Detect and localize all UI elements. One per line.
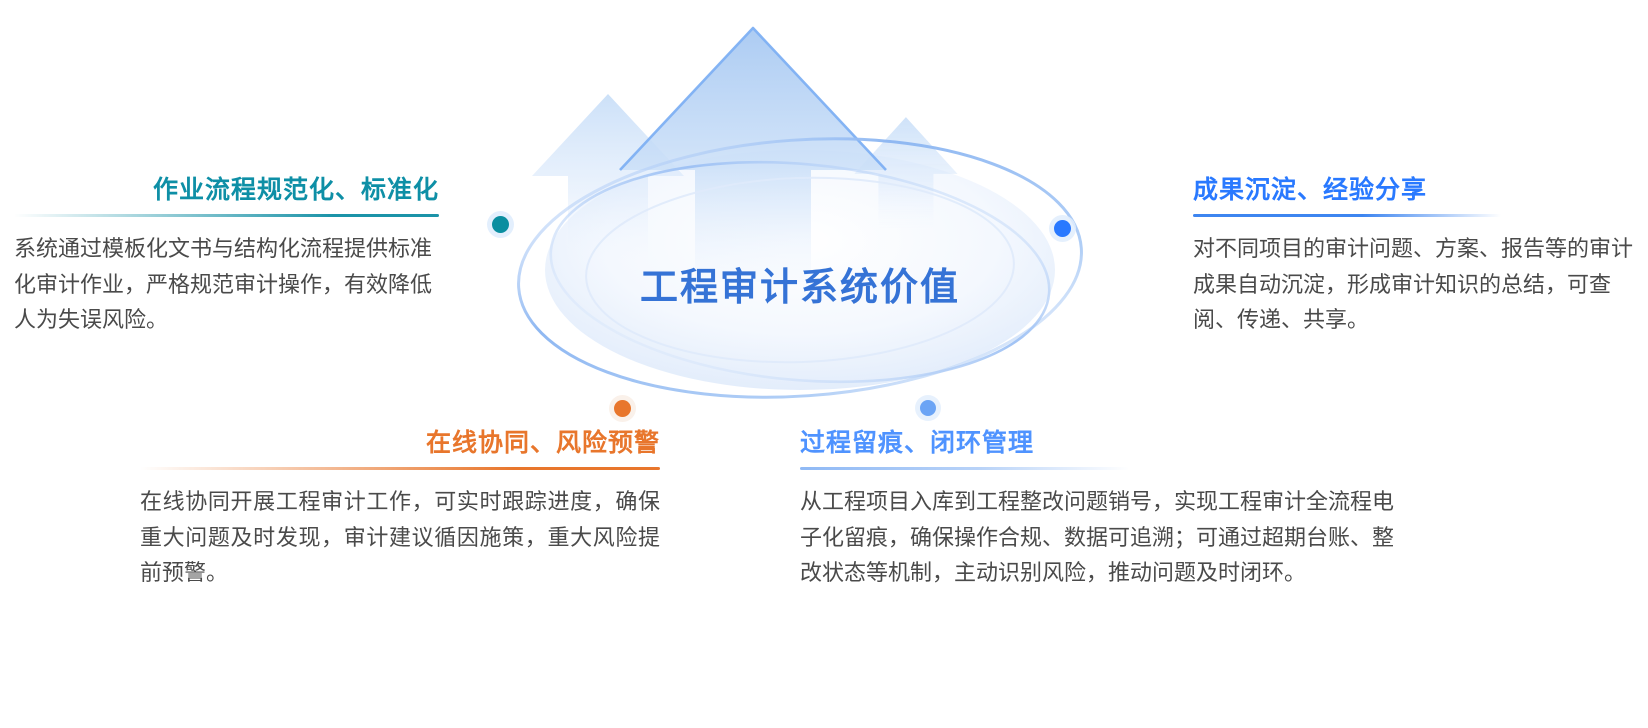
feature-underline-standardization: [14, 214, 439, 217]
infographic-canvas: 工程审计系统价值 作业流程规范化、标准化 系统通过模板化文书与结构化流程提供标准…: [0, 0, 1648, 728]
feature-underline-knowledge: [1193, 214, 1501, 217]
arrow-right: [854, 117, 957, 229]
feature-body-knowledge: 对不同项目的审计问题、方案、报告等的审计成果自动沉淀，形成审计知识的总结，可查阅…: [1193, 231, 1633, 338]
dot-orange: [614, 400, 631, 417]
feature-title-collaboration: 在线协同、风险预警: [140, 428, 660, 458]
feature-title-traceability: 过程留痕、闭环管理: [800, 428, 1410, 458]
feature-title-standardization: 作业流程规范化、标准化: [14, 175, 439, 205]
feature-block-knowledge: 成果沉淀、经验分享 对不同项目的审计问题、方案、报告等的审计成果自动沉淀，形成审…: [1193, 175, 1633, 338]
feature-body-traceability: 从工程项目入库到工程整改问题销号，实现工程审计全流程电子化留痕，确保操作合规、数…: [800, 484, 1410, 591]
feature-block-collaboration: 在线协同、风险预警 在线协同开展工程审计工作，可实时跟踪进度，确保重大问题及时发…: [140, 428, 660, 591]
feature-underline-collaboration: [140, 467, 660, 470]
feature-title-knowledge: 成果沉淀、经验分享: [1193, 175, 1633, 205]
feature-block-standardization: 作业流程规范化、标准化 系统通过模板化文书与结构化流程提供标准化审计作业，严格规…: [14, 175, 439, 338]
feature-body-collaboration: 在线协同开展工程审计工作，可实时跟踪进度，确保重大问题及时发现，审计建议循因施策…: [140, 484, 660, 591]
feature-block-traceability: 过程留痕、闭环管理 从工程项目入库到工程整改问题销号，实现工程审计全流程电子化留…: [800, 428, 1410, 591]
feature-underline-traceability: [800, 467, 1129, 470]
dot-blue-right: [1054, 220, 1071, 237]
arrow-center: [620, 28, 886, 282]
feature-body-standardization: 系统通过模板化文书与结构化流程提供标准化审计作业，严格规范审计操作，有效降低人为…: [14, 231, 439, 338]
arrow-left: [532, 94, 684, 260]
dot-teal: [492, 216, 509, 233]
center-title: 工程审计系统价值: [560, 256, 1040, 311]
dot-blue-bottom: [920, 400, 936, 416]
